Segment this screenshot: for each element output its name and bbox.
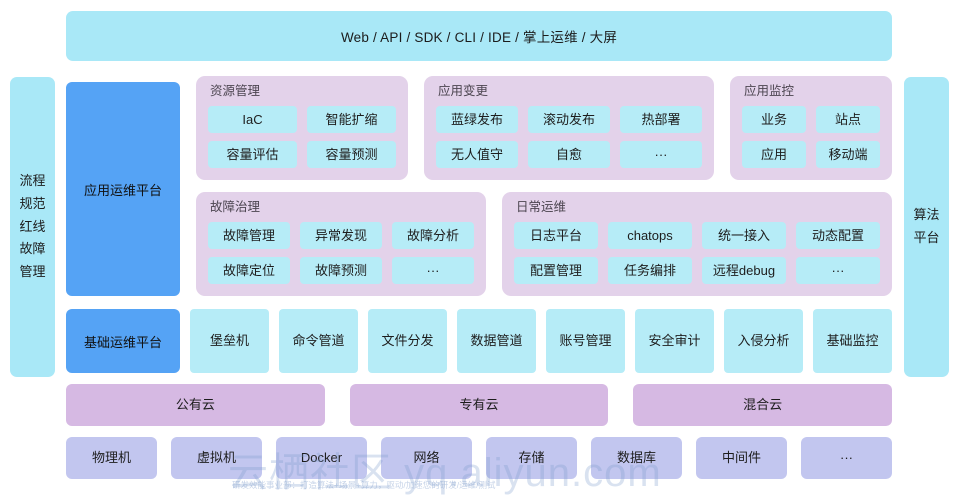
panel-item-grid: 故障管理 异常发现 故障分析 故障定位 故障预测 ··· (208, 222, 474, 284)
panel-title: 日常运维 (516, 200, 880, 215)
infrastructure-chip[interactable]: 数据库 (591, 437, 682, 479)
capability-chip-more[interactable]: ··· (392, 257, 474, 284)
left-rail-line-4: 故障 (19, 238, 45, 261)
panel-resource-management: 资源管理 IaC 智能扩缩 容量评估 容量预测 (196, 76, 408, 180)
base-capability-row: 堡垒机 命令管道 文件分发 数据管道 账号管理 安全审计 入侵分析 基础监控 (190, 309, 892, 373)
right-rail-line-1: 算法 (913, 204, 939, 227)
capability-chip[interactable]: 故障分析 (392, 222, 474, 249)
infrastructure-chip-more[interactable]: ··· (801, 437, 892, 479)
infrastructure-chip[interactable]: 网络 (381, 437, 472, 479)
capability-chip[interactable]: 远程debug (702, 257, 786, 284)
capability-chip[interactable]: 自愈 (528, 141, 610, 168)
capability-chip[interactable]: 业务 (742, 106, 806, 133)
left-rail-line-3: 红线 (19, 216, 45, 239)
panel-item-grid: IaC 智能扩缩 容量评估 容量预测 (208, 106, 396, 168)
capability-chip[interactable]: 日志平台 (514, 222, 598, 249)
capability-chip[interactable]: 无人值守 (436, 141, 518, 168)
watermark-subtext: 研发效能事业部：打造算法+场景+算力，驱动/加速您的研发/运维/测试 (232, 479, 959, 491)
access-channel-bar: Web / API / SDK / CLI / IDE / 掌上运维 / 大屏 (66, 11, 892, 61)
base-ops-platform-label: 基础运维平台 (84, 332, 162, 351)
right-rail-algorithm-platform: 算法 平台 (904, 77, 949, 377)
cloud-chip[interactable]: 混合云 (633, 384, 892, 426)
panel-title: 故障治理 (210, 200, 474, 215)
infrastructure-chip[interactable]: 中间件 (696, 437, 787, 479)
panel-fault-governance: 故障治理 故障管理 异常发现 故障分析 故障定位 故障预测 ··· (196, 192, 486, 296)
left-rail-process-governance: 流程 规范 红线 故障 管理 (10, 77, 55, 377)
base-ops-platform-block: 基础运维平台 (66, 309, 180, 373)
infrastructure-chip[interactable]: Docker (276, 437, 367, 479)
base-capability-chip[interactable]: 账号管理 (546, 309, 625, 373)
application-ops-platform-label: 应用运维平台 (84, 180, 162, 199)
capability-chip[interactable]: chatops (608, 222, 692, 249)
cloud-layer-row: 公有云 专有云 混合云 (66, 384, 892, 426)
left-rail-line-5: 管理 (19, 261, 45, 284)
panel-item-grid: 蓝绿发布 滚动发布 热部署 无人值守 自愈 ··· (436, 106, 702, 168)
base-capability-chip[interactable]: 数据管道 (457, 309, 536, 373)
panel-item-grid: 日志平台 chatops 统一接入 动态配置 配置管理 任务编排 远程debug… (514, 222, 880, 284)
capability-chip[interactable]: 动态配置 (796, 222, 880, 249)
left-rail-line-1: 流程 (19, 170, 45, 193)
application-ops-platform-block: 应用运维平台 (66, 82, 180, 296)
panel-item-grid: 业务 站点 应用 移动端 (742, 106, 880, 168)
base-capability-chip[interactable]: 入侵分析 (724, 309, 803, 373)
capability-chip[interactable]: 移动端 (816, 141, 880, 168)
panel-title: 应用变更 (438, 84, 702, 99)
capability-chip[interactable]: 统一接入 (702, 222, 786, 249)
base-capability-chip[interactable]: 基础监控 (813, 309, 892, 373)
panel-application-monitoring: 应用监控 业务 站点 应用 移动端 (730, 76, 892, 180)
panel-application-change: 应用变更 蓝绿发布 滚动发布 热部署 无人值守 自愈 ··· (424, 76, 714, 180)
capability-chip[interactable]: 配置管理 (514, 257, 598, 284)
capability-chip-more[interactable]: ··· (620, 141, 702, 168)
access-channel-label: Web / API / SDK / CLI / IDE / 掌上运维 / 大屏 (341, 26, 617, 46)
cloud-chip[interactable]: 专有云 (350, 384, 609, 426)
base-capability-chip[interactable]: 命令管道 (279, 309, 358, 373)
panel-title: 应用监控 (744, 84, 880, 99)
capability-chip[interactable]: 故障预测 (300, 257, 382, 284)
capability-chip[interactable]: 蓝绿发布 (436, 106, 518, 133)
infrastructure-chip[interactable]: 存储 (486, 437, 577, 479)
capability-chip[interactable]: 异常发现 (300, 222, 382, 249)
infrastructure-chip[interactable]: 物理机 (66, 437, 157, 479)
capability-chip[interactable]: 站点 (816, 106, 880, 133)
capability-chip[interactable]: IaC (208, 106, 297, 133)
base-capability-chip[interactable]: 安全审计 (635, 309, 714, 373)
infrastructure-row: 物理机 虚拟机 Docker 网络 存储 数据库 中间件 ··· (66, 437, 892, 479)
left-rail-line-2: 规范 (19, 193, 45, 216)
right-rail-line-2: 平台 (913, 227, 939, 250)
capability-chip[interactable]: 热部署 (620, 106, 702, 133)
architecture-diagram: Web / API / SDK / CLI / IDE / 掌上运维 / 大屏 … (0, 0, 959, 487)
cloud-chip[interactable]: 公有云 (66, 384, 325, 426)
infrastructure-chip[interactable]: 虚拟机 (171, 437, 262, 479)
capability-chip[interactable]: 滚动发布 (528, 106, 610, 133)
capability-chip[interactable]: 应用 (742, 141, 806, 168)
capability-chip[interactable]: 容量预测 (307, 141, 396, 168)
capability-chip-more[interactable]: ··· (796, 257, 880, 284)
panel-title: 资源管理 (210, 84, 396, 99)
capability-chip[interactable]: 任务编排 (608, 257, 692, 284)
capability-chip[interactable]: 智能扩缩 (307, 106, 396, 133)
panel-daily-operations: 日常运维 日志平台 chatops 统一接入 动态配置 配置管理 任务编排 远程… (502, 192, 892, 296)
capability-chip[interactable]: 容量评估 (208, 141, 297, 168)
base-capability-chip[interactable]: 文件分发 (368, 309, 447, 373)
capability-chip[interactable]: 故障定位 (208, 257, 290, 284)
base-capability-chip[interactable]: 堡垒机 (190, 309, 269, 373)
capability-chip[interactable]: 故障管理 (208, 222, 290, 249)
